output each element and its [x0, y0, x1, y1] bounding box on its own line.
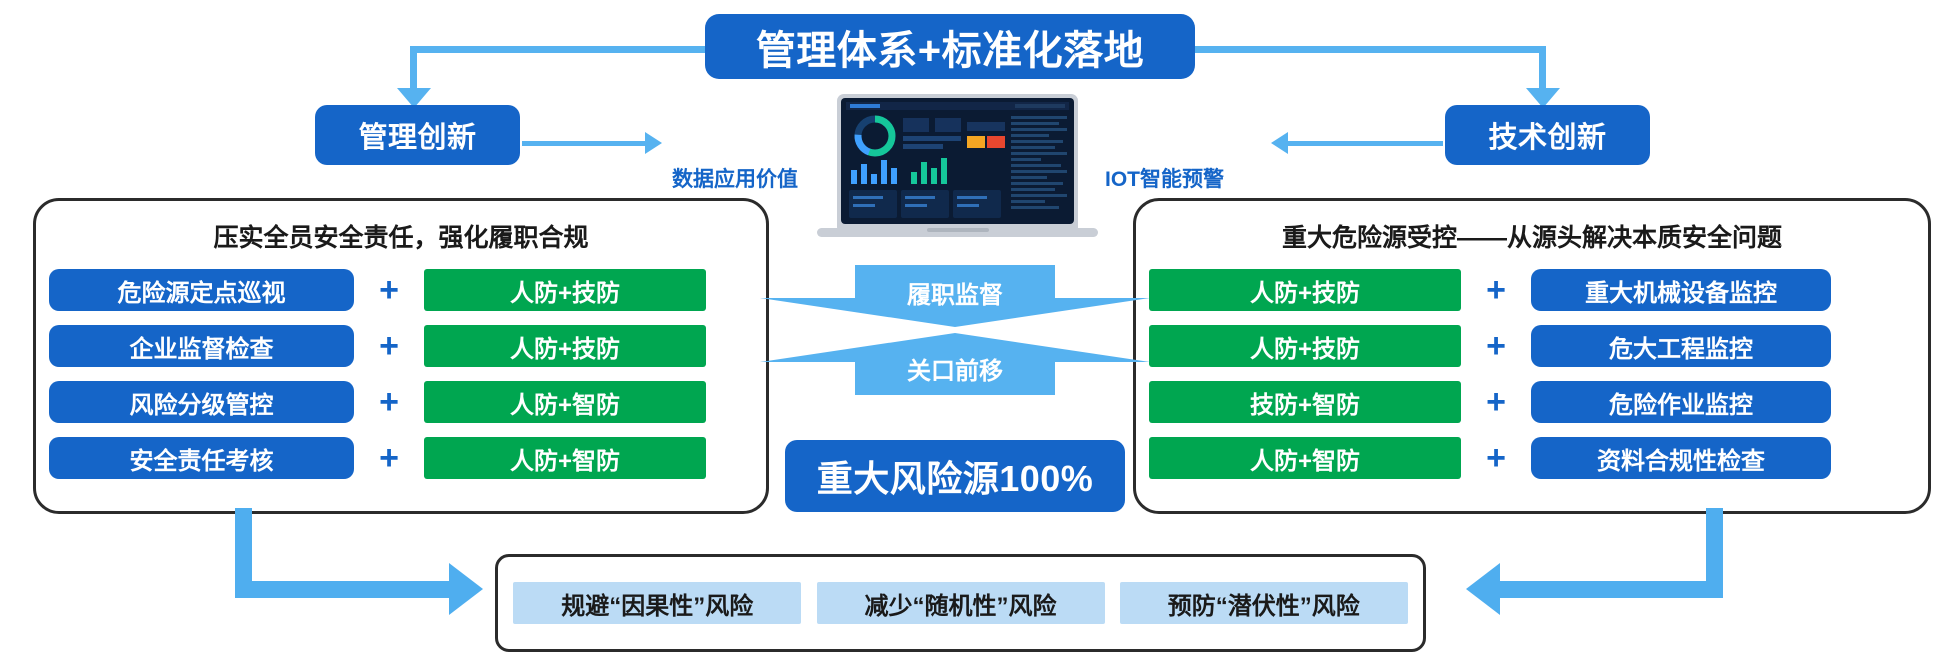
right-item-green[interactable]: 技防+智防 — [1149, 381, 1461, 423]
node-technical-innovation[interactable]: 技术创新 — [1445, 105, 1650, 165]
outcome-item[interactable]: 规避“因果性”风险 — [513, 582, 801, 624]
connector-right-panel-left — [1500, 581, 1723, 598]
connector-tech-to-iot — [1288, 141, 1443, 146]
page-title: 管理体系+标准化落地 — [705, 14, 1195, 79]
left-item-blue[interactable]: 安全责任考核 — [49, 437, 354, 479]
panel-left-rows: 危险源定点巡视 + 人防+技防 企业监督检查 + 人防+技防 风险分级管控 + … — [36, 267, 766, 491]
right-item-green[interactable]: 人防+技防 — [1149, 325, 1461, 367]
connector-right-panel-down — [1706, 508, 1723, 590]
plus-icon: + — [354, 327, 424, 366]
left-item-blue[interactable]: 企业监督检查 — [49, 325, 354, 367]
label-gateway-forward: 关口前移 — [855, 351, 1055, 386]
outcome-item[interactable]: 预防“潜伏性”风险 — [1120, 582, 1408, 624]
connector-title-left-vertical — [410, 46, 417, 93]
connector-mgmt-to-data — [522, 141, 646, 146]
outcome-item[interactable]: 减少“随机性”风险 — [817, 582, 1105, 624]
label-duty-supervision: 履职监督 — [855, 275, 1055, 310]
left-item-green[interactable]: 人防+智防 — [424, 381, 706, 423]
left-item-green[interactable]: 人防+技防 — [424, 325, 706, 367]
right-item-green[interactable]: 人防+技防 — [1149, 269, 1461, 311]
plus-icon: + — [1461, 383, 1531, 422]
left-item-blue[interactable]: 风险分级管控 — [49, 381, 354, 423]
table-row: 人防+技防 + 重大机械设备监控 — [1149, 267, 1928, 313]
plus-icon: + — [1461, 327, 1531, 366]
plus-icon: + — [1461, 439, 1531, 478]
connector-title-right-vertical — [1539, 46, 1546, 93]
panel-technical: 重大危险源受控——从源头解决本质安全问题 人防+技防 + 重大机械设备监控 人防… — [1133, 198, 1931, 514]
table-row: 人防+技防 + 危大工程监控 — [1149, 323, 1928, 369]
right-item-green[interactable]: 人防+智防 — [1149, 437, 1461, 479]
right-item-blue[interactable]: 危险作业监控 — [1531, 381, 1831, 423]
node-major-risk-100: 重大风险源100% — [785, 440, 1125, 512]
arrowhead-right-bottom-icon — [449, 563, 483, 615]
diagram-canvas: 管理体系+标准化落地 管理创新 数据应用价值 技术创新 IOT智能预警 — [0, 0, 1960, 671]
table-row: 企业监督检查 + 人防+技防 — [49, 323, 766, 369]
table-row: 安全责任考核 + 人防+智防 — [49, 435, 766, 481]
table-row: 风险分级管控 + 人防+智防 — [49, 379, 766, 425]
panel-management: 压实全员安全责任，强化履职合规 危险源定点巡视 + 人防+技防 企业监督检查 +… — [33, 198, 769, 514]
table-row: 危险源定点巡视 + 人防+技防 — [49, 267, 766, 313]
table-row: 人防+智防 + 资料合规性检查 — [1149, 435, 1928, 481]
table-row: 技防+智防 + 危险作业监控 — [1149, 379, 1928, 425]
left-item-green[interactable]: 人防+智防 — [424, 437, 706, 479]
plus-icon: + — [354, 383, 424, 422]
connector-title-left-horizontal — [417, 46, 709, 53]
plus-icon: + — [354, 271, 424, 310]
panel-left-title: 压实全员安全责任，强化履职合规 — [36, 218, 766, 254]
left-item-green[interactable]: 人防+技防 — [424, 269, 706, 311]
plus-icon: + — [354, 439, 424, 478]
left-item-blue[interactable]: 危险源定点巡视 — [49, 269, 354, 311]
arrowhead-left-bottom-icon — [1466, 563, 1500, 615]
connector-left-panel-right — [235, 581, 450, 598]
arrowhead-left-iot-icon — [1271, 132, 1288, 154]
label-data-application-value: 数据应用价值 — [672, 163, 798, 193]
panel-outcomes: 规避“因果性”风险 减少“随机性”风险 预防“潜伏性”风险 — [495, 554, 1426, 652]
panel-right-title: 重大危险源受控——从源头解决本质安全问题 — [1136, 218, 1928, 254]
node-management-innovation[interactable]: 管理创新 — [315, 105, 520, 165]
connector-left-panel-down — [235, 508, 252, 590]
arrowhead-right-data-icon — [645, 132, 662, 154]
connector-title-right-horizontal — [1191, 46, 1546, 53]
right-item-blue[interactable]: 重大机械设备监控 — [1531, 269, 1831, 311]
panel-right-rows: 人防+技防 + 重大机械设备监控 人防+技防 + 危大工程监控 技防+智防 + … — [1136, 267, 1928, 491]
right-item-blue[interactable]: 资料合规性检查 — [1531, 437, 1831, 479]
plus-icon: + — [1461, 271, 1531, 310]
label-iot-smart-alert: IOT智能预警 — [1105, 163, 1224, 193]
right-item-blue[interactable]: 危大工程监控 — [1531, 325, 1831, 367]
bowtie-arrows: 履职监督 关口前移 — [855, 265, 1055, 395]
laptop-dashboard-illustration — [815, 92, 1100, 242]
